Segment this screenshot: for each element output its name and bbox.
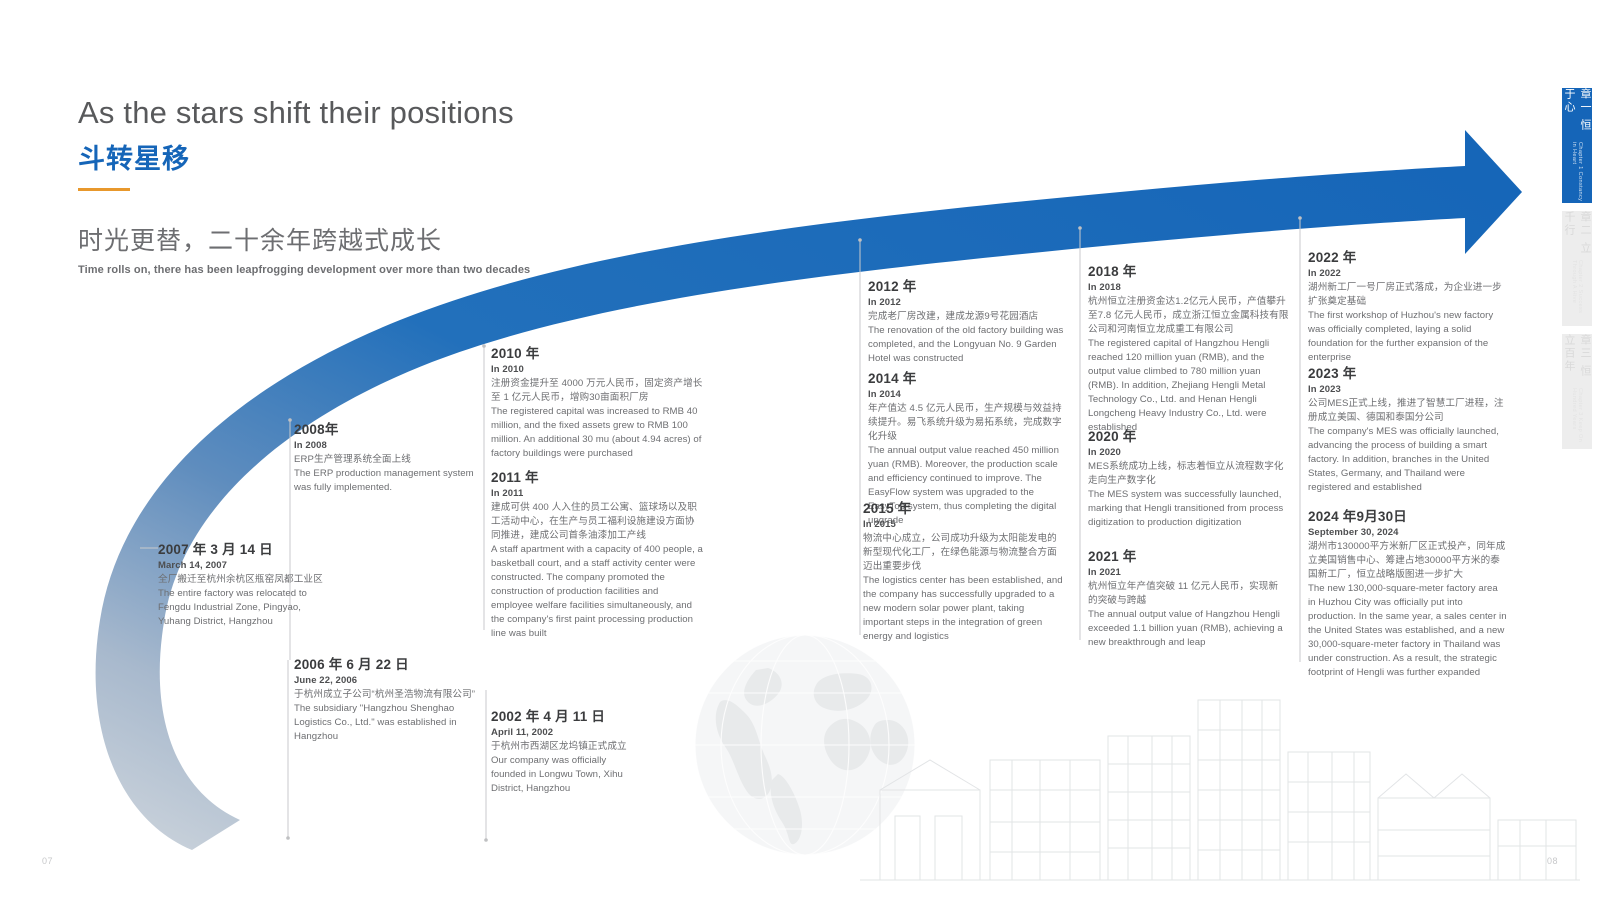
entry-date-cn: 2021 年 (1088, 545, 1286, 565)
chapter-tab-1-label-cn: 章一 恒于心 (1561, 88, 1593, 140)
entry-date-cn: 2023 年 (1308, 362, 1508, 382)
entry-date-cn: 2006 年 6 月 22 日 (294, 653, 479, 673)
entry-date-en: April 11, 2002 (491, 727, 641, 738)
entry-date-en: In 2010 (491, 364, 707, 375)
entry-body-cn: 建成可供 400 人入住的员工公寓、篮球场以及职工活动中心，在生产与员工福利设施… (491, 501, 703, 543)
timeline-entry-2006: 2006 年 6 月 22 日 June 22, 2006 于杭州成立子公司“杭… (294, 653, 479, 744)
entry-date-cn: 2008年 (294, 418, 474, 438)
timeline-entry-2020: 2020 年 In 2020 MES系统成功上线，标志着恒立从流程数字化走向生产… (1088, 425, 1290, 530)
chapter-tab-1[interactable]: 章一 恒于心 Chapter 1 Constancy in Heart (1562, 88, 1592, 203)
chapter-tab-2[interactable]: 章二 立千行 Chapter 2 Success Through A Hive (1562, 211, 1592, 326)
chapter-tab-3-label-cn: 章三 恒立百年 (1561, 334, 1593, 386)
entry-date-en: In 2014 (868, 389, 1068, 400)
entry-date-cn: 2012 年 (868, 275, 1068, 295)
entry-body-cn: 完成老厂房改建，建成龙源9号花园酒店 (868, 310, 1068, 324)
entry-body-cn: 于杭州市西湖区龙坞镇正式成立 (491, 740, 641, 754)
entry-body-en: A staff apartment with a capacity of 400… (491, 543, 703, 642)
entry-body-en: The company's MES was officially launche… (1308, 425, 1508, 495)
entry-body-cn: 湖州新工厂一号厂房正式落成，为企业进一步扩张奠定基础 (1308, 281, 1508, 309)
page-number-left: 07 (42, 856, 53, 866)
entry-date-cn: 2002 年 4 月 11 日 (491, 705, 641, 725)
entry-date-en: In 2012 (868, 297, 1068, 308)
entry-date-en: In 2015 (863, 519, 1063, 530)
entry-body-en: The entire factory was relocated to Feng… (158, 587, 328, 629)
page-subtitle-en: Time rolls on, there has been leapfroggi… (78, 264, 698, 276)
chapter-tab-1-label-en: Chapter 1 Constancy in Heart (1571, 142, 1583, 204)
chapter-tab-3[interactable]: 章三 恒立百年 Chapter 3 Keep On Hundred Years (1562, 334, 1592, 449)
entry-body-en: The registered capital of Hangzhou Hengl… (1088, 337, 1290, 436)
page-subtitle-cn: 时光更替，二十余年跨越式成长 (78, 221, 698, 257)
entry-date-en: In 2023 (1308, 384, 1508, 395)
entry-body-cn: 年产值达 4.5 亿元人民币，生产规模与效益持续提升。易飞系统升级为易拓系统，完… (868, 402, 1068, 444)
entry-date-cn: 2024 年9月30日 (1308, 505, 1508, 525)
entry-date-cn: 2011 年 (491, 466, 703, 486)
page-header: As the stars shift their positions 斗转星移 … (78, 95, 698, 276)
timeline-page: As the stars shift their positions 斗转星移 … (0, 0, 1600, 916)
globe-illustration (660, 630, 950, 860)
timeline-entry-2008: 2008年 In 2008 ERP生产管理系统全面上线 The ERP prod… (294, 418, 474, 495)
entry-body-en: The registered capital was increased to … (491, 405, 707, 461)
timeline-entry-2002: 2002 年 4 月 11 日 April 11, 2002 于杭州市西湖区龙坞… (491, 705, 641, 796)
entry-body-cn: 杭州恒立注册资金达1.2亿元人民币，产值攀升至7.8 亿元人民币，成立浙江恒立金… (1088, 295, 1290, 337)
entry-date-en: In 2018 (1088, 282, 1290, 293)
entry-body-cn: 注册资金提升至 4000 万元人民币，固定资产增长至 1 亿元人民币，增购30亩… (491, 377, 707, 405)
timeline-entry-2021: 2021 年 In 2021 杭州恒立年产值突破 11 亿元人民币，实现新的突破… (1088, 545, 1286, 650)
entry-body-cn: 公司MES正式上线，推进了智慧工厂进程，注册成立美国、德国和泰国分公司 (1308, 397, 1508, 425)
timeline-entry-2012: 2012 年 In 2012 完成老厂房改建，建成龙源9号花园酒店 The re… (868, 275, 1068, 366)
entry-date-cn: 2022 年 (1308, 246, 1508, 266)
timeline-entry-2023: 2023 年 In 2023 公司MES正式上线，推进了智慧工厂进程，注册成立美… (1308, 362, 1508, 495)
entry-date-cn: 2020 年 (1088, 425, 1290, 445)
entry-body-cn: 湖州市130000平方米新厂区正式投产，同年成立美国销售中心、筹建占地30000… (1308, 540, 1508, 582)
entry-date-en: September 30, 2024 (1308, 527, 1508, 538)
entry-body-cn: ERP生产管理系统全面上线 (294, 453, 474, 467)
entry-date-en: In 2020 (1088, 447, 1290, 458)
timeline-entry-2015: 2015 年 In 2015 物流中心成立，公司成功升级为太阳能发电的新型现代化… (863, 497, 1063, 644)
timeline-entry-2024: 2024 年9月30日 September 30, 2024 湖州市130000… (1308, 505, 1508, 680)
entry-body-en: The logistics center has been establishe… (863, 574, 1063, 644)
entry-body-cn: MES系统成功上线，标志着恒立从流程数字化走向生产数字化 (1088, 460, 1290, 488)
entry-date-cn: 2018 年 (1088, 260, 1290, 280)
entry-body-en: The ERP production management system was… (294, 467, 474, 495)
entry-body-en: The annual output value of Hangzhou Heng… (1088, 608, 1286, 650)
entry-date-en: In 2021 (1088, 567, 1286, 578)
timeline-entry-2010: 2010 年 In 2010 注册资金提升至 4000 万元人民币，固定资产增长… (491, 342, 707, 461)
entry-date-cn: 2007 年 3 月 14 日 (158, 538, 328, 558)
entry-date-en: March 14, 2007 (158, 560, 328, 571)
chapter-tab-rail: 章一 恒于心 Chapter 1 Constancy in Heart 章二 立… (1562, 88, 1592, 449)
entry-body-en: The new 130,000-square-meter factory are… (1308, 582, 1508, 681)
title-underline-rule (78, 188, 130, 191)
entry-date-cn: 2014 年 (868, 367, 1068, 387)
entry-body-en: The first workshop of Huzhou's new facto… (1308, 309, 1508, 365)
chapter-tab-2-label-cn: 章二 立千行 (1561, 211, 1593, 258)
entry-date-cn: 2010 年 (491, 342, 707, 362)
entry-body-en: The MES system was successfully launched… (1088, 488, 1290, 530)
entry-body-cn: 物流中心成立，公司成功升级为太阳能发电的新型现代化工厂，在绿色能源与物流整合方面… (863, 532, 1063, 574)
page-number-right: 08 (1547, 856, 1558, 866)
page-title-cn: 斗转星移 (78, 137, 698, 176)
entry-date-en: In 2022 (1308, 268, 1508, 279)
entry-body-en: Our company was officially founded in Lo… (491, 754, 641, 796)
entry-date-cn: 2015 年 (863, 497, 1063, 517)
entry-body-cn: 全厂搬迁至杭州余杭区瓶窑凤都工业区 (158, 573, 328, 587)
entry-date-en: In 2008 (294, 440, 474, 451)
timeline-entry-2022: 2022 年 In 2022 湖州新工厂一号厂房正式落成，为企业进一步扩张奠定基… (1308, 246, 1508, 365)
entry-body-cn: 杭州恒立年产值突破 11 亿元人民币，实现新的突破与跨越 (1088, 580, 1286, 608)
entry-body-en: The subsidiary "Hangzhou Shenghao Logist… (294, 702, 479, 744)
entry-body-cn: 于杭州成立子公司“杭州圣浩物流有限公司” (294, 688, 479, 702)
timeline-entry-2011: 2011 年 In 2011 建成可供 400 人入住的员工公寓、篮球场以及职工… (491, 466, 703, 641)
chapter-tab-3-label-en: Chapter 3 Keep On Hundred Years (1571, 388, 1583, 449)
page-title-en: As the stars shift their positions (78, 95, 698, 131)
timeline-entry-2007: 2007 年 3 月 14 日 March 14, 2007 全厂搬迁至杭州余杭… (158, 538, 328, 629)
chapter-tab-2-label-en: Chapter 2 Success Through A Hive (1571, 260, 1583, 326)
entry-date-en: June 22, 2006 (294, 675, 479, 686)
entry-date-en: In 2011 (491, 488, 703, 499)
entry-body-en: The renovation of the old factory buildi… (868, 324, 1068, 366)
timeline-entry-2018: 2018 年 In 2018 杭州恒立注册资金达1.2亿元人民币，产值攀升至7.… (1088, 260, 1290, 435)
